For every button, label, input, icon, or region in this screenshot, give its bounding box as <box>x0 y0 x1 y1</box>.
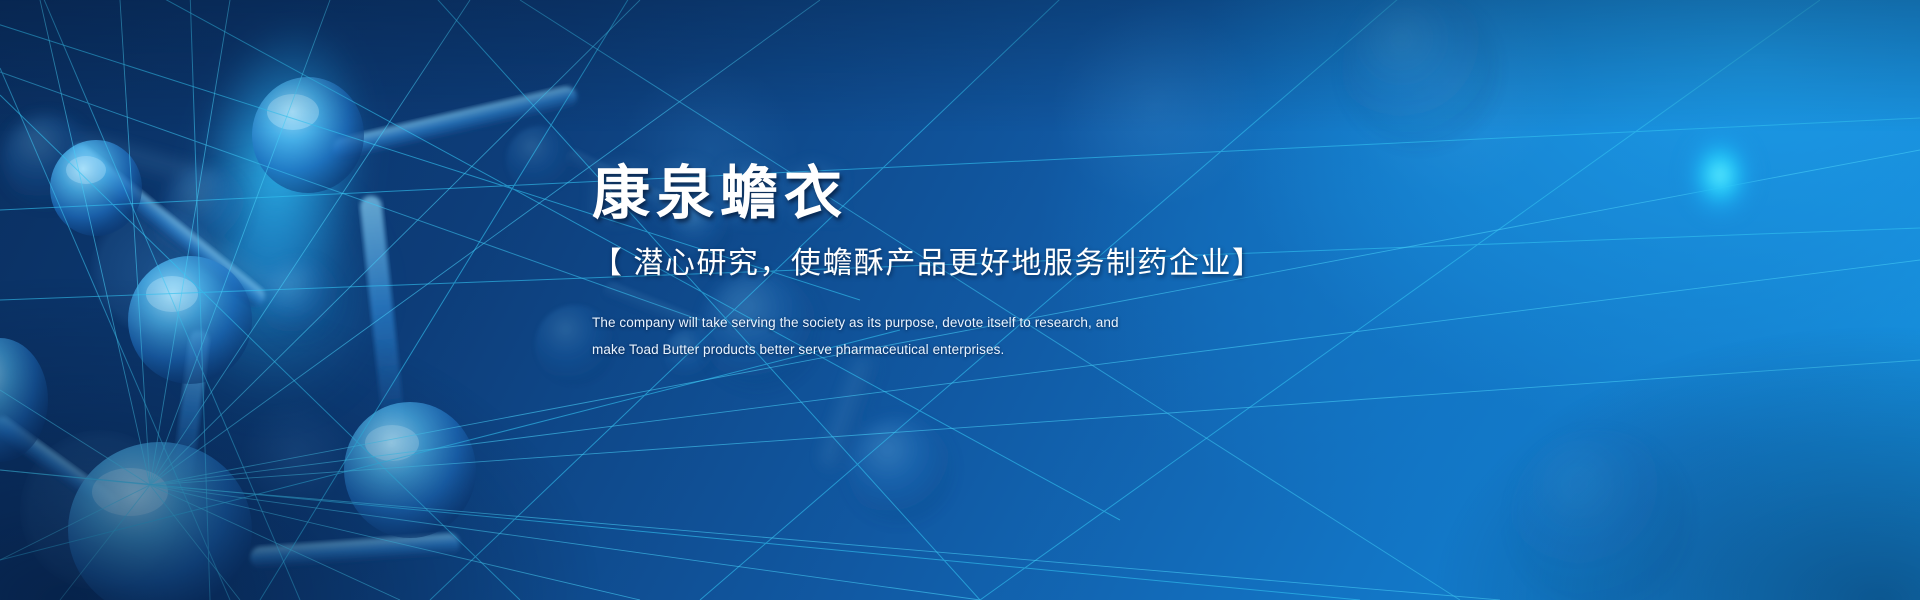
banner-english-line-1: The company will take serving the societ… <box>592 309 1352 337</box>
banner-english-line-2: make Toad Butter products better serve p… <box>592 336 1352 364</box>
banner-title: 康泉蟾衣 <box>592 164 1352 223</box>
hero-banner: 康泉蟾衣 【 潜心研究，使蟾酥产品更好地服务制药企业】 The company … <box>0 0 1920 600</box>
banner-copy: 康泉蟾衣 【 潜心研究，使蟾酥产品更好地服务制药企业】 The company … <box>592 164 1352 364</box>
cyan-point-light <box>1655 100 1785 250</box>
banner-english-block: The company will take serving the societ… <box>592 309 1352 364</box>
banner-subtitle: 【 潜心研究，使蟾酥产品更好地服务制药企业】 <box>592 245 1352 283</box>
